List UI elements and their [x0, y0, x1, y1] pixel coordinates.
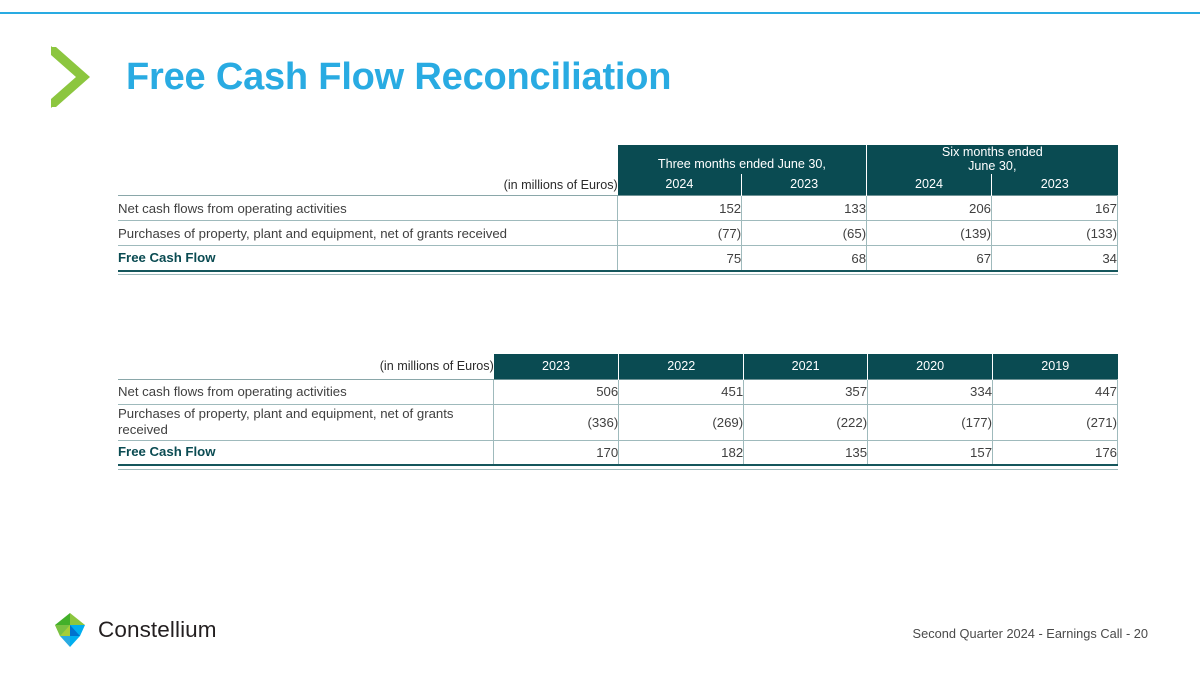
- cell-fcf-h1-2024: 67: [867, 246, 992, 271]
- top-accent-rule: [0, 12, 1200, 14]
- cell-fcf-2020: 157: [868, 440, 993, 465]
- col-header-2023: 2023: [494, 354, 619, 379]
- cell-operating-2021: 357: [744, 379, 868, 404]
- cell-operating-2019: 447: [993, 379, 1118, 404]
- cell-capex-2021: (222): [744, 404, 868, 440]
- table-row-total: Free Cash Flow 170 182 135 157 176: [118, 440, 1118, 465]
- cell-capex-2020: (177): [868, 404, 993, 440]
- fcf-annual-table: (in millions of Euros) 2023 2022 2021 20…: [118, 354, 1118, 470]
- group-header-six-months: Six months ended June 30,: [867, 145, 1118, 174]
- units-label: (in millions of Euros): [118, 174, 618, 196]
- group-header-six-months-line2: June 30,: [968, 159, 1016, 173]
- row-label-operating-cash-flow: Net cash flows from operating activities: [118, 196, 618, 221]
- table-bottom-rule-cell: [118, 271, 618, 275]
- table-row: Purchases of property, plant and equipme…: [118, 404, 1118, 440]
- row-label-free-cash-flow: Free Cash Flow: [118, 440, 494, 465]
- table-year-header-row: (in millions of Euros) 2023 2022 2021 20…: [118, 354, 1118, 379]
- table-bottom-rule-cell: [993, 465, 1118, 469]
- fcf-quarterly-table: Three months ended June 30, Six months e…: [118, 145, 1118, 275]
- cell-capex-2019: (271): [993, 404, 1118, 440]
- table-bottom-rule-cell: [118, 465, 494, 469]
- group-header-six-months-line1: Six months ended: [942, 145, 1043, 159]
- col-header-h1-2023: 2023: [992, 174, 1118, 196]
- company-name: Constellium: [98, 619, 217, 642]
- units-label: (in millions of Euros): [118, 354, 494, 379]
- cell-capex-h1-2024: (139): [867, 221, 992, 246]
- col-header-q2-2024: 2024: [618, 174, 742, 196]
- table-bottom-rule-cell: [619, 465, 744, 469]
- table-bottom-rule-cell: [992, 271, 1118, 275]
- cell-fcf-2019: 176: [993, 440, 1118, 465]
- cell-capex-h1-2023: (133): [992, 221, 1118, 246]
- cell-fcf-2022: 182: [619, 440, 744, 465]
- table-bottom-rule-cell: [494, 465, 619, 469]
- table-bottom-rule-cell: [868, 465, 993, 469]
- table-group-header-row: Three months ended June 30, Six months e…: [118, 145, 1118, 174]
- table-row-total: Free Cash Flow 75 68 67 34: [118, 246, 1118, 271]
- table-row: Purchases of property, plant and equipme…: [118, 221, 1118, 246]
- cell-operating-2022: 451: [619, 379, 744, 404]
- col-header-q2-2023: 2023: [742, 174, 867, 196]
- cell-operating-h1-2023: 167: [992, 196, 1118, 221]
- row-label-free-cash-flow: Free Cash Flow: [118, 246, 618, 271]
- slide-header: Free Cash Flow Reconciliation: [46, 44, 671, 110]
- chevron-right-icon: [46, 44, 98, 110]
- col-header-h1-2024: 2024: [867, 174, 992, 196]
- col-header-2022: 2022: [619, 354, 744, 379]
- page-title: Free Cash Flow Reconciliation: [126, 58, 671, 96]
- cell-fcf-q2-2023: 68: [742, 246, 867, 271]
- cell-capex-q2-2023: (65): [742, 221, 867, 246]
- table-bottom-rule-cell: [744, 465, 868, 469]
- col-header-2019: 2019: [993, 354, 1118, 379]
- cell-fcf-h1-2023: 34: [992, 246, 1118, 271]
- table-row: Net cash flows from operating activities…: [118, 379, 1118, 404]
- cell-operating-h1-2024: 206: [867, 196, 992, 221]
- cell-capex-2023: (336): [494, 404, 619, 440]
- table-bottom-rule-cell: [618, 271, 742, 275]
- group-header-three-months: Three months ended June 30,: [618, 145, 867, 174]
- table-bottom-rule-cell: [742, 271, 867, 275]
- table-row: Net cash flows from operating activities…: [118, 196, 1118, 221]
- cell-fcf-2021: 135: [744, 440, 868, 465]
- cell-fcf-2023: 170: [494, 440, 619, 465]
- row-label-operating-cash-flow: Net cash flows from operating activities: [118, 379, 494, 404]
- table-bottom-rule: [118, 271, 1118, 275]
- spacer-cell: [118, 145, 618, 174]
- col-header-2020: 2020: [868, 354, 993, 379]
- row-label-capex: Purchases of property, plant and equipme…: [118, 221, 618, 246]
- table-year-header-row: (in millions of Euros) 2024 2023 2024 20…: [118, 174, 1118, 196]
- constellium-logo-icon: [52, 612, 88, 648]
- cell-operating-q2-2023: 133: [742, 196, 867, 221]
- footer-branding: Constellium: [52, 612, 217, 648]
- col-header-2021: 2021: [744, 354, 868, 379]
- cell-capex-q2-2024: (77): [618, 221, 742, 246]
- cell-operating-2020: 334: [868, 379, 993, 404]
- footer-slide-note: Second Quarter 2024 - Earnings Call - 20: [913, 626, 1148, 641]
- row-label-capex: Purchases of property, plant and equipme…: [118, 404, 494, 440]
- cell-capex-2022: (269): [619, 404, 744, 440]
- table-bottom-rule: [118, 465, 1118, 469]
- cell-operating-2023: 506: [494, 379, 619, 404]
- cell-operating-q2-2024: 152: [618, 196, 742, 221]
- cell-fcf-q2-2024: 75: [618, 246, 742, 271]
- table-bottom-rule-cell: [867, 271, 992, 275]
